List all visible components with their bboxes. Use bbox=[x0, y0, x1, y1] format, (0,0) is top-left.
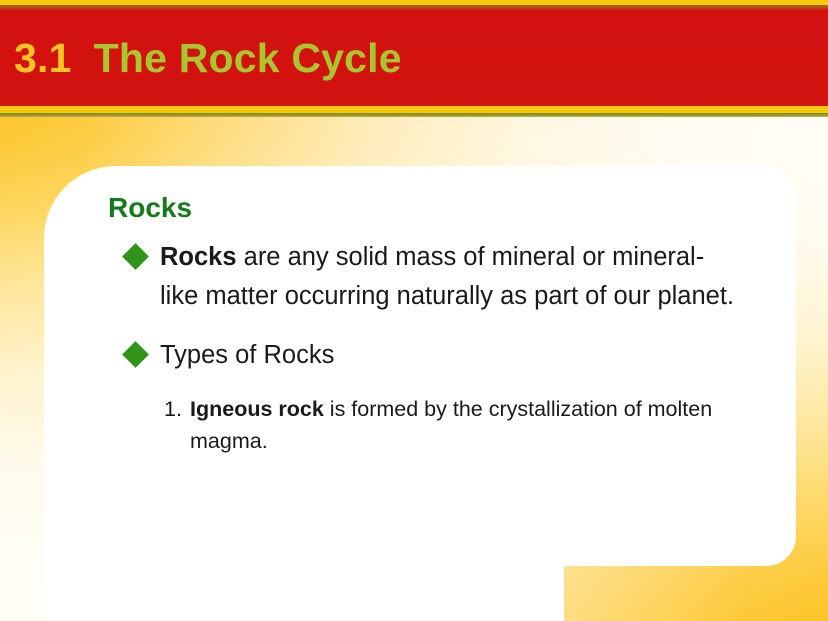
slide-canvas: 3.1 The Rock Cycle Rocks Rocks are any s… bbox=[0, 0, 828, 621]
bullet-item-2: Types of Rocks bbox=[126, 336, 788, 375]
content-body: Rocks Rocks are any solid mass of minera… bbox=[108, 193, 788, 457]
banner-bottom-accent bbox=[0, 113, 828, 117]
bullet-item-1: Rocks are any solid mass of mineral or m… bbox=[126, 238, 788, 316]
title-banner: 3.1 The Rock Cycle bbox=[0, 0, 828, 116]
slide-title: 3.1 The Rock Cycle bbox=[14, 22, 402, 94]
section-heading: Rocks bbox=[108, 193, 788, 224]
bullet-item-1-bold-lead: Rocks bbox=[160, 243, 237, 271]
page-title: The Rock Cycle bbox=[94, 35, 402, 82]
bullet-item-1-rest: are any solid mass of mineral or mineral… bbox=[160, 243, 734, 310]
bullet-item-2-text: Types of Rocks bbox=[160, 336, 334, 375]
bullet-item-1-text: Rocks are any solid mass of mineral or m… bbox=[160, 238, 738, 316]
bullet-item-2-rest: Types of Rocks bbox=[160, 341, 334, 369]
numbered-item-1-bold-lead: Igneous rock bbox=[190, 397, 324, 421]
numbered-item-1-text: Igneous rock is formed by the crystalliz… bbox=[190, 393, 750, 458]
numbered-item-1: 1. Igneous rock is formed by the crystal… bbox=[164, 393, 788, 458]
banner-bottom-rule bbox=[0, 106, 828, 113]
numbered-list: 1. Igneous rock is formed by the crystal… bbox=[164, 393, 788, 458]
section-number: 3.1 bbox=[14, 35, 72, 82]
diamond-bullet-icon bbox=[122, 341, 149, 368]
numbered-item-1-marker: 1. bbox=[164, 393, 190, 425]
diamond-bullet-icon bbox=[122, 243, 149, 270]
